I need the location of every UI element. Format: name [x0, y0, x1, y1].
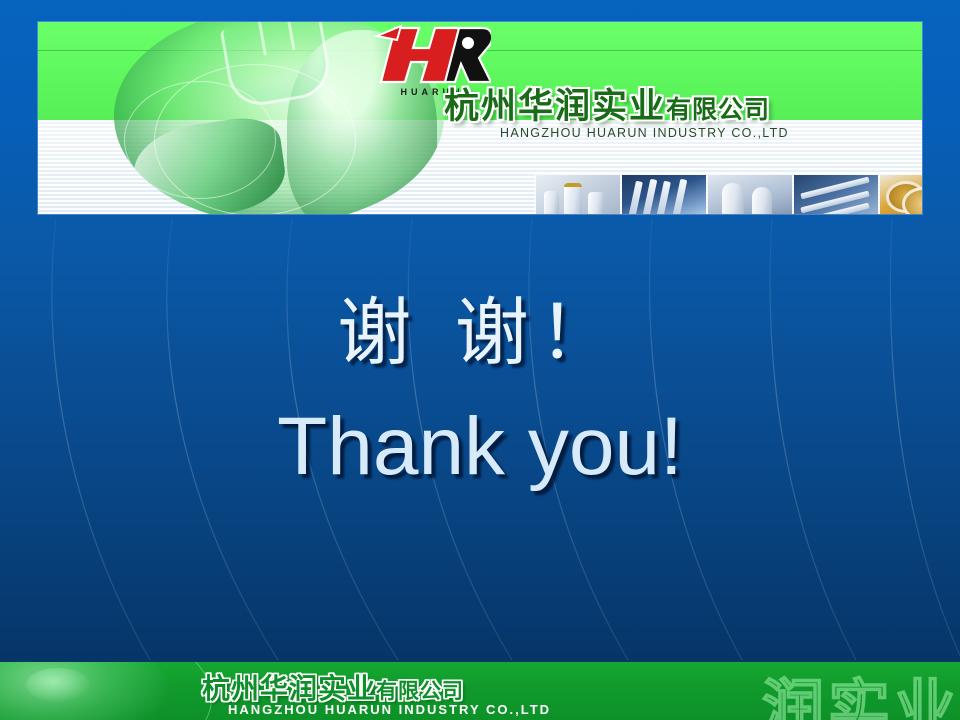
product-photo: [708, 175, 792, 214]
footer-arc-decoration: [0, 662, 212, 720]
product-photo: [536, 175, 620, 214]
product-photo: [622, 175, 706, 214]
footer-company-name-cn: 杭州华润实业有限公司: [202, 667, 464, 707]
footer-company-name-en: HANGZHOU HUARUN INDUSTRY CO.,LTD: [228, 702, 551, 717]
product-photo: [880, 175, 922, 214]
company-name-cn-suffix: 有限公司: [666, 96, 770, 124]
company-name-en: HANGZHOU HUARUN INDUSTRY CO.,LTD: [500, 126, 789, 140]
company-name-cn-main: 杭州华润实业: [444, 87, 666, 126]
footer-bar: 润实业 杭州华润实业有限公司 HANGZHOU HUARUN INDUSTRY …: [0, 662, 960, 720]
product-photo: [794, 175, 878, 214]
company-name-cn: 杭州华润实业有限公司: [444, 78, 770, 129]
thanks-english-text: Thank you!: [0, 406, 960, 488]
footer-watermark-text: 润实业: [762, 662, 960, 720]
header-banner: HUARUN 杭州华润实业有限公司 HANGZHOU HUARUN INDUST…: [38, 22, 922, 214]
presentation-slide: HUARUN 杭州华润实业有限公司 HANGZHOU HUARUN INDUST…: [0, 0, 960, 720]
thanks-chinese-text: 谢 谢！: [0, 296, 960, 370]
product-photo-strip: [534, 173, 922, 214]
lab-photo-arc: [124, 81, 276, 199]
footer-company-name-cn-main: 杭州华润实业: [202, 673, 376, 704]
footer-company-name-cn-suffix: 有限公司: [376, 680, 464, 703]
